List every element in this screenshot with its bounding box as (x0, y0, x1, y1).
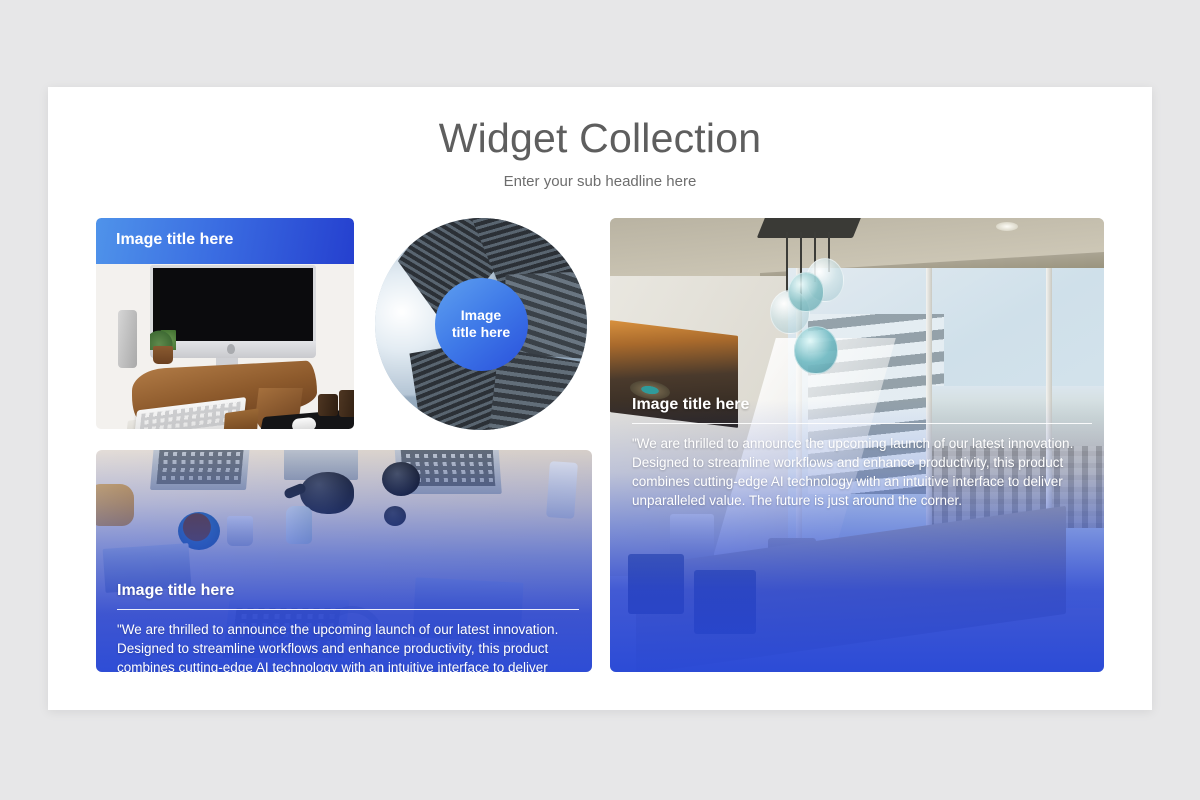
card-body-text: "We are thrilled to announce the upcomin… (632, 434, 1092, 511)
card-title-label: Image title here (117, 582, 579, 600)
card-right[interactable]: Image title here "We are thrilled to ann… (610, 218, 1104, 672)
card-bottom-left[interactable]: Image title here "We are thrilled to ann… (96, 450, 592, 672)
cup-shape (339, 390, 354, 417)
circle-title-line1: Image (461, 307, 501, 323)
card-top-left[interactable]: Image title here (96, 218, 354, 429)
card-title-bar: Image title here (96, 218, 354, 264)
circle-title-badge[interactable]: Imagetitle here (435, 278, 528, 371)
card-title-label: Image title here (116, 231, 233, 249)
cup-shape (318, 394, 338, 416)
card-text-block: Image title here "We are thrilled to ann… (117, 582, 579, 672)
card-title-label: Image title here (632, 396, 1092, 414)
card-circle[interactable]: Imagetitle here (375, 218, 587, 430)
mouse-shape (291, 417, 316, 429)
title-divider (632, 423, 1092, 424)
speaker-shape (118, 310, 137, 368)
card-text-block: Image title here "We are thrilled to ann… (632, 396, 1092, 511)
page-title: Widget Collection (48, 115, 1152, 162)
slide-canvas: Widget Collection Enter your sub headlin… (48, 87, 1152, 710)
apple-logo-icon (227, 344, 235, 354)
circle-title-label: Imagetitle here (452, 307, 510, 342)
circle-title-line2: title here (452, 324, 510, 340)
wood-tray-shape (223, 408, 258, 429)
page-subtitle: Enter your sub headline here (48, 173, 1152, 190)
card-body-text: "We are thrilled to announce the upcomin… (117, 620, 579, 672)
plant-pot-shape (153, 346, 173, 364)
title-divider (117, 609, 579, 610)
